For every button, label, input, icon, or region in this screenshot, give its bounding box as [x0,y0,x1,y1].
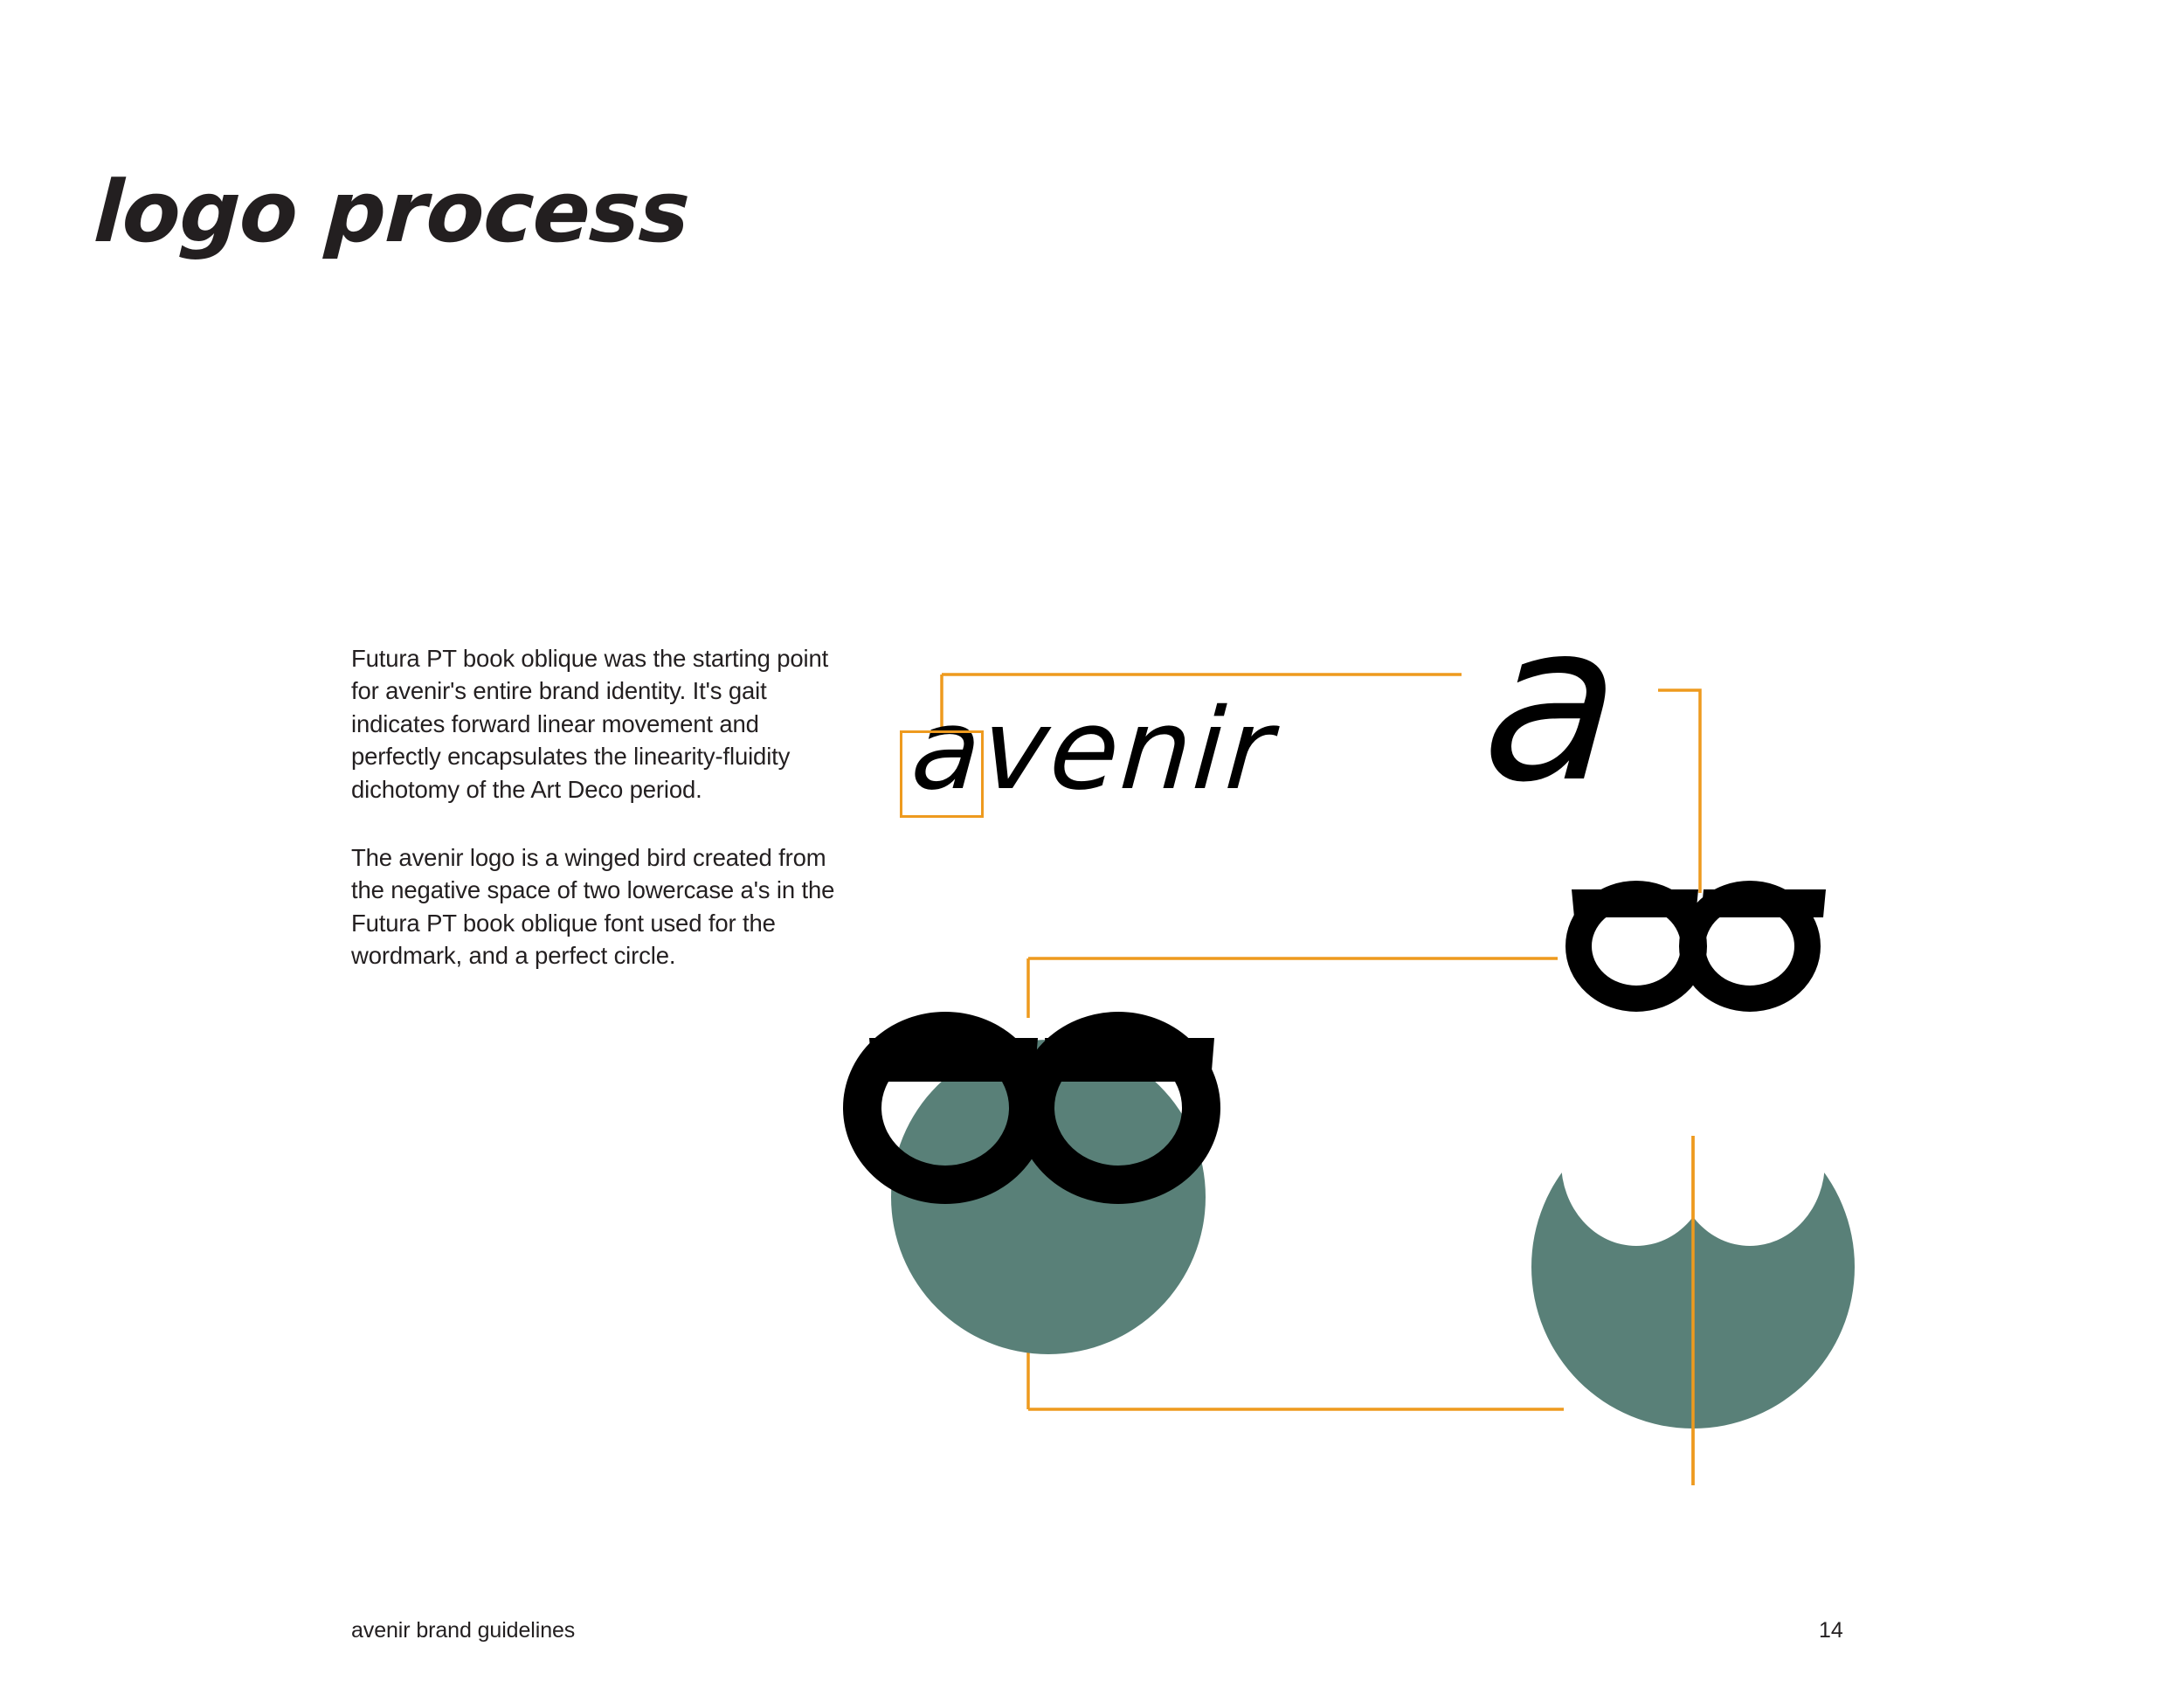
counters-over-circle [862,1031,1214,1354]
body-paragraph-2: The avenir logo is a winged bird created… [351,841,840,972]
page-title: logo process [92,163,691,261]
highlighted-glyph-box [900,730,984,818]
brand-circle [891,1040,1206,1354]
final-bird-mark [1531,1105,1855,1429]
connector-letter-to-counters [1028,958,1558,1018]
body-copy-block: Futura PT book oblique was the starting … [351,642,840,972]
page-number: 14 [1819,1618,1843,1643]
footer-label: avenir brand guidelines [351,1618,575,1643]
isolated-letter-a: a [1477,594,1627,813]
connector-counters-to-bird [1028,1350,1564,1409]
slide-page: logo process Futura PT book oblique was … [0,0,2184,1688]
paired-counters-oo [1572,889,1826,999]
body-paragraph-1: Futura PT book oblique was the starting … [351,642,840,806]
